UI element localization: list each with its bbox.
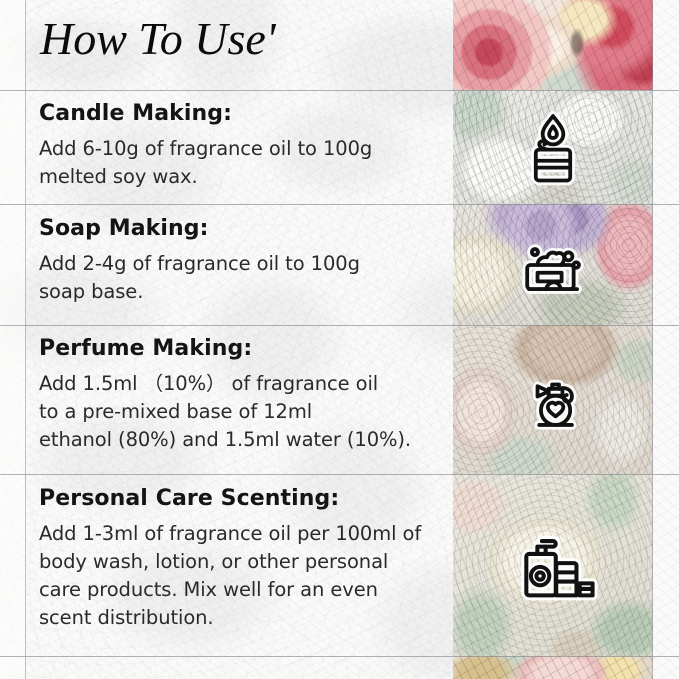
body-line: to a pre-mixed base of 12ml [39,398,411,426]
body-line: body wash, lotion, or other personal [39,548,421,576]
right-margin-strip [653,0,679,679]
section-heading: Soap Making: [39,216,360,241]
blossom-photo [453,474,653,656]
section-heading: Candle Making: [39,101,372,126]
section-soap-making: Soap Making: Add 2-4g of fragrance oil t… [39,216,360,306]
left-vertical-rule [25,0,26,679]
divider-rule [0,90,679,91]
candle-icon [510,104,596,190]
section-body: Add 1.5ml （10%） of fragrance oil to a pr… [39,370,411,454]
divider-rule [0,656,679,657]
lotion-bottle-icon [507,519,599,611]
section-perfume-making: Perfume Making: Add 1.5ml （10%） of fragr… [39,336,411,454]
body-line: Add 6-10g of fragrance oil to 100g [39,135,372,163]
body-line: scent distribution. [39,604,421,632]
divider-rule [0,474,679,475]
body-line: melted soy wax. [39,163,372,191]
soap-bar-icon [510,222,596,308]
magnolia-photo [453,90,653,204]
section-body: Add 1-3ml of fragrance oil per 100ml of … [39,520,421,632]
section-heading: Perfume Making: [39,336,411,361]
section-personal-care-scenting: Personal Care Scenting: Add 1-3ml of fra… [39,486,421,632]
body-line: Add 1-3ml of fragrance oil per 100ml of [39,520,421,548]
divider-rule [0,325,679,326]
section-heading: Personal Care Scenting: [39,486,421,511]
lily-photo [453,325,653,474]
page-title: How To Use' [40,12,276,65]
body-line: ethanol (80%) and 1.5ml water (10%). [39,426,411,454]
perfume-bottle-icon [510,357,596,443]
section-candle-making: Candle Making: Add 6-10g of fragrance oi… [39,101,372,191]
bottom-photo [453,656,653,679]
body-line: care products. Mix well for an even [39,576,421,604]
body-line: Add 1.5ml （10%） of fragrance oil [39,370,411,398]
photo-column [453,0,653,679]
section-body: Add 6-10g of fragrance oil to 100g melte… [39,135,372,191]
body-line: soap base. [39,278,360,306]
roses-photo [453,0,653,90]
hydrangea-photo [453,204,653,325]
body-line: Add 2-4g of fragrance oil to 100g [39,250,360,278]
how-to-use-infographic: How To Use' Candle Making: Add 6-10g of … [0,0,679,679]
left-margin-strip [0,0,26,679]
right-vertical-rule [652,0,653,679]
divider-rule [0,204,679,205]
section-body: Add 2-4g of fragrance oil to 100g soap b… [39,250,360,306]
